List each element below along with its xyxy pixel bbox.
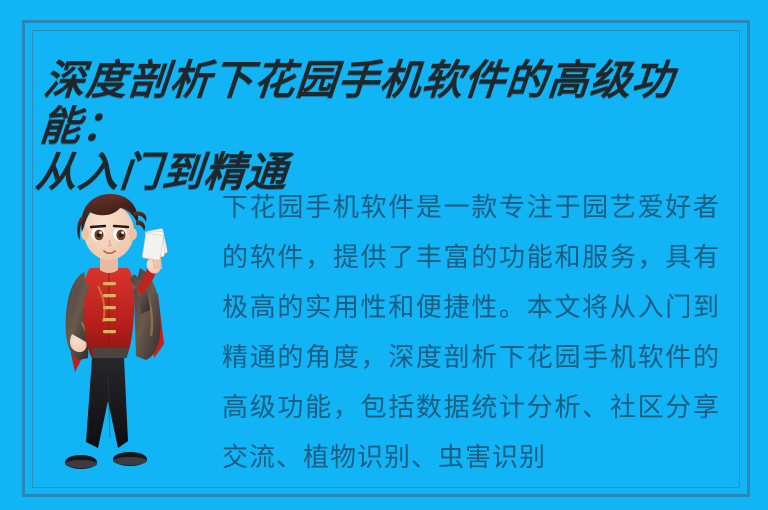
playing-cards bbox=[142, 228, 168, 260]
character-head bbox=[77, 194, 146, 260]
character-pants bbox=[86, 358, 128, 448]
character-shoes bbox=[65, 452, 147, 469]
character-svg bbox=[48, 176, 198, 486]
banner-title: 深度剖析下花园手机软件的高级功能： 从入门到精通 bbox=[34, 57, 726, 195]
banner-body-text: 下花园手机软件是一款专注于园艺爱好者的软件，提供了丰富的功能和服务，具有极高的实… bbox=[222, 183, 720, 483]
character-shirt bbox=[84, 268, 135, 358]
promo-banner: 深度剖析下花园手机软件的高级功能： 从入门到精通 下花园手机软件是一款专注于园艺… bbox=[0, 0, 768, 510]
character-illustration bbox=[48, 176, 198, 486]
